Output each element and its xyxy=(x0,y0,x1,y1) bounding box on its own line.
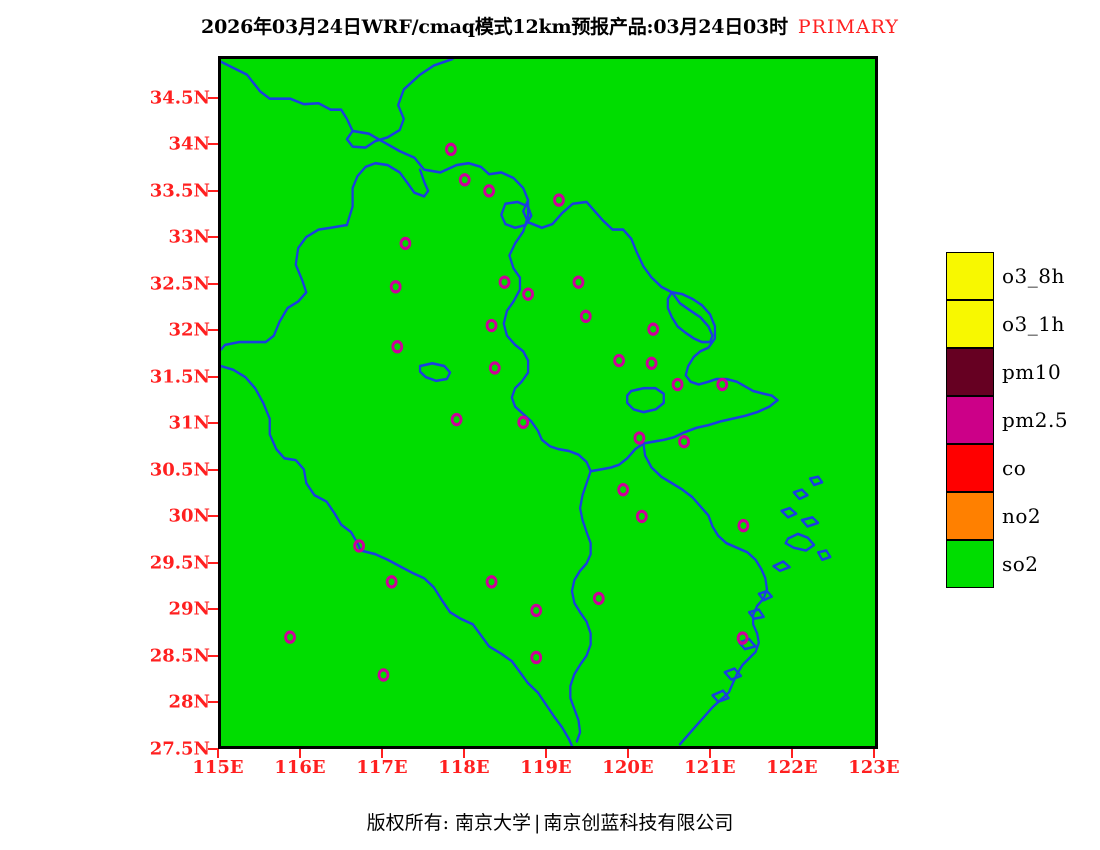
x-axis-tick-label: 118E xyxy=(438,757,489,778)
legend-item-label: pm10 xyxy=(1002,360,1061,384)
x-axis-tick-mark xyxy=(873,749,875,758)
x-axis-tick-mark xyxy=(627,749,629,758)
footer-copyright-text: 版权所有: 南京大学 xyxy=(367,812,531,834)
legend-item-o3-8h[interactable]: o3_8h xyxy=(946,252,994,300)
legend-item-pm2-5[interactable]: pm2.5 xyxy=(946,396,994,444)
legend-item-label: co xyxy=(1002,456,1026,480)
x-axis: 115E116E117E118E119E120E121E122E123E xyxy=(0,0,1100,850)
x-axis-tick-label: 121E xyxy=(684,757,735,778)
legend-item-label: pm2.5 xyxy=(1002,408,1068,432)
x-axis-tick-label: 117E xyxy=(356,757,407,778)
legend-item-label: no2 xyxy=(1002,504,1041,528)
footer-copyright: 版权所有: 南京大学|南京创蓝科技有限公司 xyxy=(0,808,1100,835)
footer-separator: | xyxy=(531,812,543,834)
x-axis-tick-mark xyxy=(217,749,219,758)
legend-item-label: o3_8h xyxy=(1002,264,1065,288)
x-axis-tick-mark xyxy=(299,749,301,758)
legend-color-swatch xyxy=(946,444,994,492)
x-axis-tick-label: 123E xyxy=(848,757,899,778)
x-axis-tick-label: 115E xyxy=(192,757,243,778)
pollutant-legend: o3_8ho3_1hpm10pm2.5cono2so2 xyxy=(946,252,994,588)
legend-item-so2[interactable]: so2 xyxy=(946,540,994,588)
legend-item-pm10[interactable]: pm10 xyxy=(946,348,994,396)
x-axis-tick-mark xyxy=(381,749,383,758)
legend-item-o3-1h[interactable]: o3_1h xyxy=(946,300,994,348)
legend-item-label: so2 xyxy=(1002,552,1039,576)
x-axis-tick-mark xyxy=(463,749,465,758)
legend-color-swatch xyxy=(946,492,994,540)
legend-item-label: o3_1h xyxy=(1002,312,1065,336)
x-axis-tick-label: 119E xyxy=(520,757,571,778)
legend-color-swatch xyxy=(946,300,994,348)
x-axis-tick-mark xyxy=(709,749,711,758)
x-axis-tick-label: 120E xyxy=(602,757,653,778)
legend-item-no2[interactable]: no2 xyxy=(946,492,994,540)
legend-color-swatch xyxy=(946,540,994,588)
legend-item-co[interactable]: co xyxy=(946,444,994,492)
x-axis-tick-label: 122E xyxy=(766,757,817,778)
x-axis-tick-mark xyxy=(545,749,547,758)
footer-company-text: 南京创蓝科技有限公司 xyxy=(543,812,733,834)
x-axis-tick-label: 116E xyxy=(274,757,325,778)
legend-color-swatch xyxy=(946,252,994,300)
x-axis-tick-mark xyxy=(791,749,793,758)
legend-color-swatch xyxy=(946,348,994,396)
legend-color-swatch xyxy=(946,396,994,444)
